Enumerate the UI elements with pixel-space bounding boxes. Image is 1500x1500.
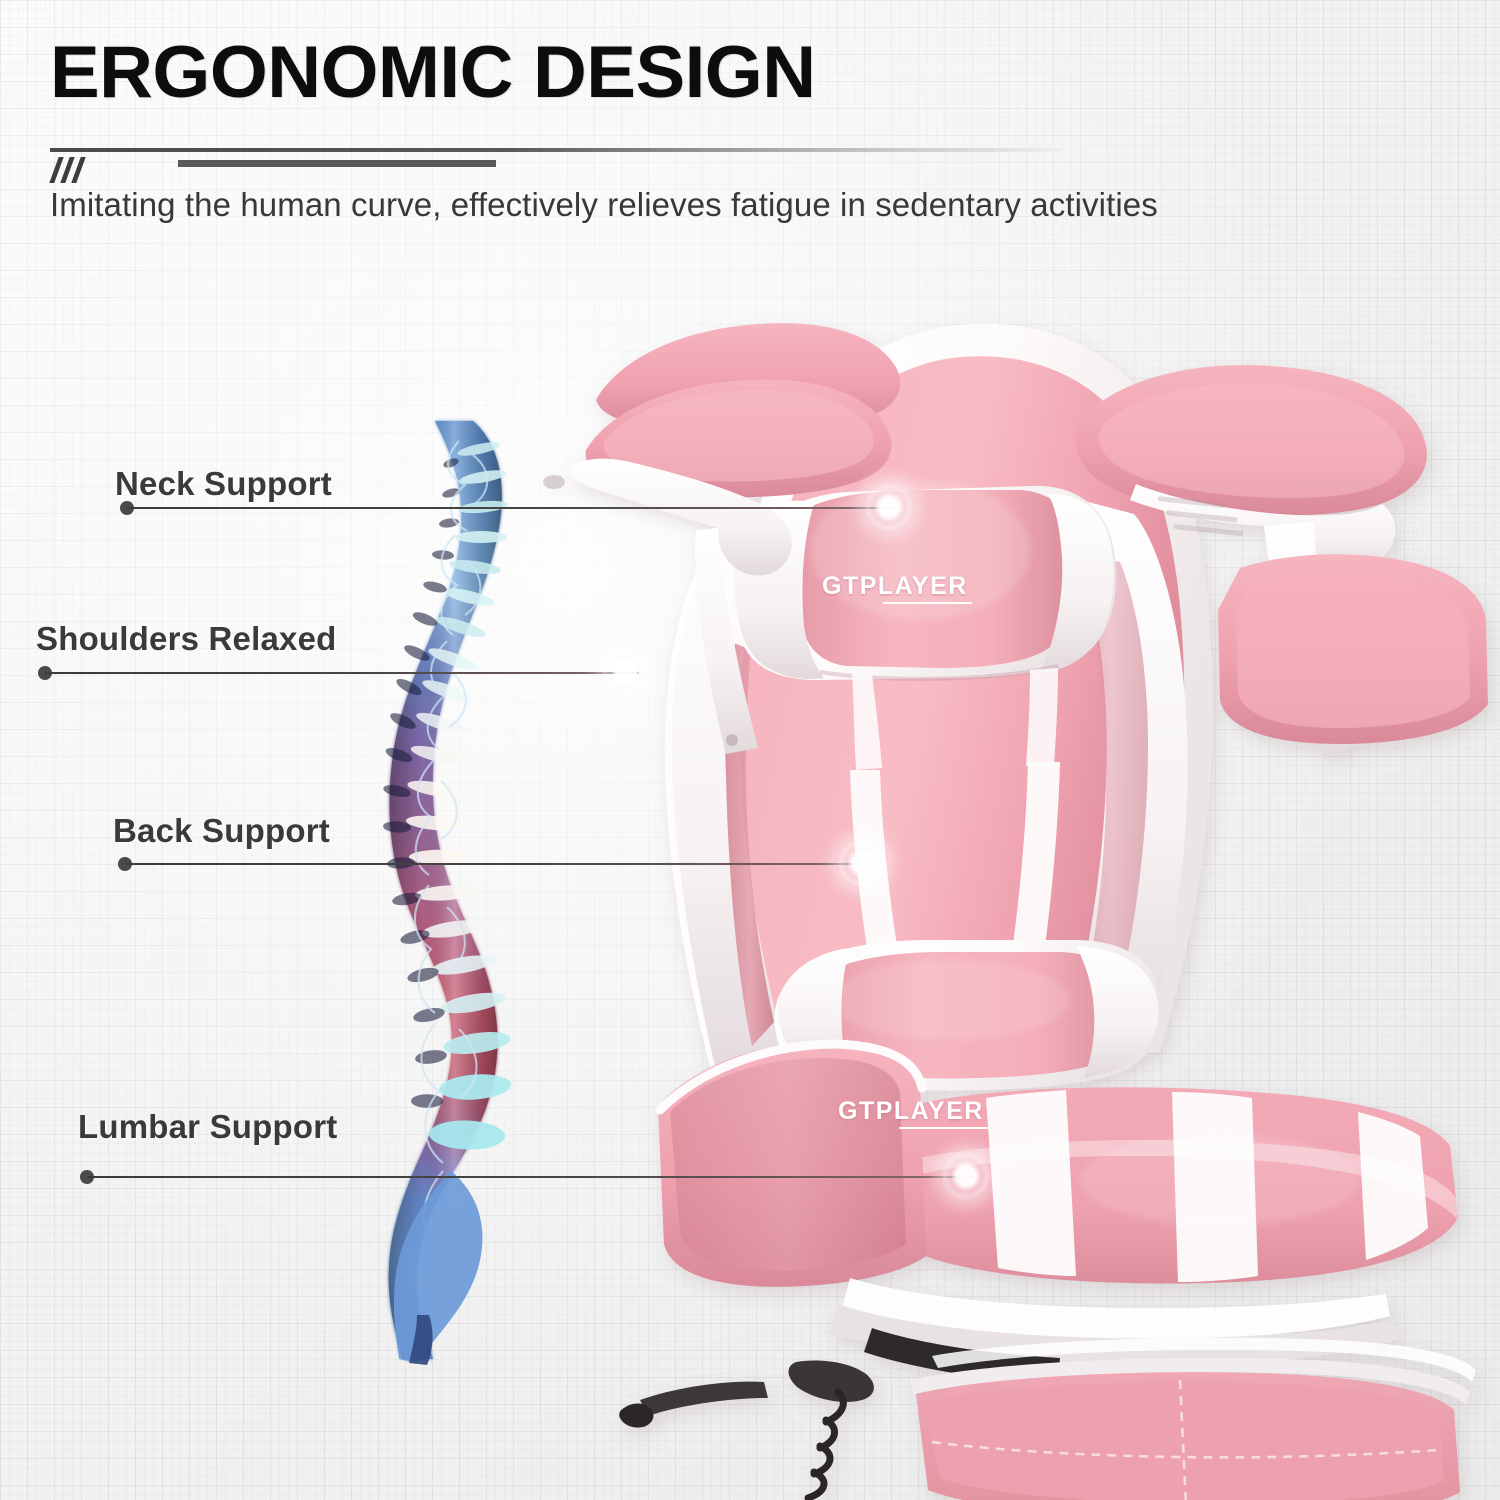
callout-line-lumbar [87, 1176, 975, 1178]
page-title: ERGONOMIC DESIGN [50, 36, 815, 109]
header-accent-bar [178, 160, 496, 167]
callout-label-shoulders: Shoulders Relaxed [36, 620, 337, 658]
callout-label-back: Back Support [113, 812, 330, 850]
headrest-brand-logo: GTPLAYER [822, 572, 968, 601]
callout-line-shoulders [45, 672, 639, 674]
callout-line-neck [127, 507, 897, 509]
callout-glow-marker-lumbar [940, 1150, 992, 1202]
triple-slash-icon [52, 157, 112, 187]
callout-leader-back [118, 849, 862, 873]
callout-leader-shoulders [38, 658, 632, 682]
header-section: ERGONOMIC DESIGN Imitating the human cur… [0, 0, 1500, 250]
callout-label-lumbar: Lumbar Support [78, 1108, 337, 1146]
gaming-chair-image: GTPLAYER GTPLAYER [520, 300, 1500, 1500]
callout-line-back [125, 863, 869, 865]
lumbar-pillow-brand-logo: GTPLAYER [838, 1097, 984, 1126]
callout-leader-neck [120, 493, 890, 517]
callout-glow-marker-shoulders [600, 646, 652, 698]
callout-glow-marker-neck [863, 481, 915, 533]
callout-leader-lumbar [80, 1162, 968, 1186]
callout-glow-marker-back [836, 837, 888, 889]
header-divider-line [50, 148, 1062, 152]
page-subtitle: Imitating the human curve, effectively r… [50, 186, 1158, 224]
